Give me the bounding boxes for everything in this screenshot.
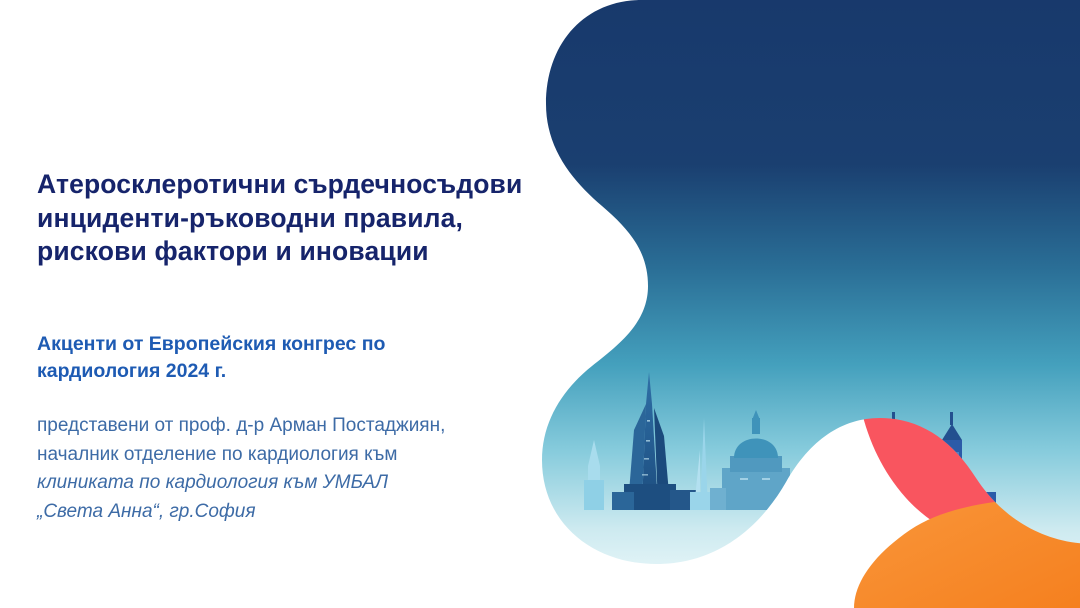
presenter-line: началник отделение по кардиология към bbox=[37, 441, 557, 470]
presenter-line: представени от проф. д-р Арман Постаджия… bbox=[37, 412, 557, 441]
page-title: Атеросклеротични сърдечносъдови инцидент… bbox=[37, 168, 537, 269]
decorative-artwork bbox=[524, 0, 1080, 608]
slide-text-column: Атеросклеротични сърдечносъдови инцидент… bbox=[37, 0, 557, 608]
artwork-svg bbox=[524, 0, 1080, 608]
presenter-credits: представени от проф. д-р Арман Постаджия… bbox=[37, 412, 557, 526]
presentation-slide: Атеросклеротични сърдечносъдови инцидент… bbox=[0, 0, 1080, 608]
slide-subtitle: Акценти от Европейския конгрес по кардио… bbox=[37, 331, 497, 385]
skyline-low-buildings bbox=[810, 482, 898, 510]
presenter-line: клиниката по кардиология към УМБАЛ bbox=[37, 469, 557, 498]
presenter-line: „Света Анна“, гр.София bbox=[37, 498, 557, 527]
